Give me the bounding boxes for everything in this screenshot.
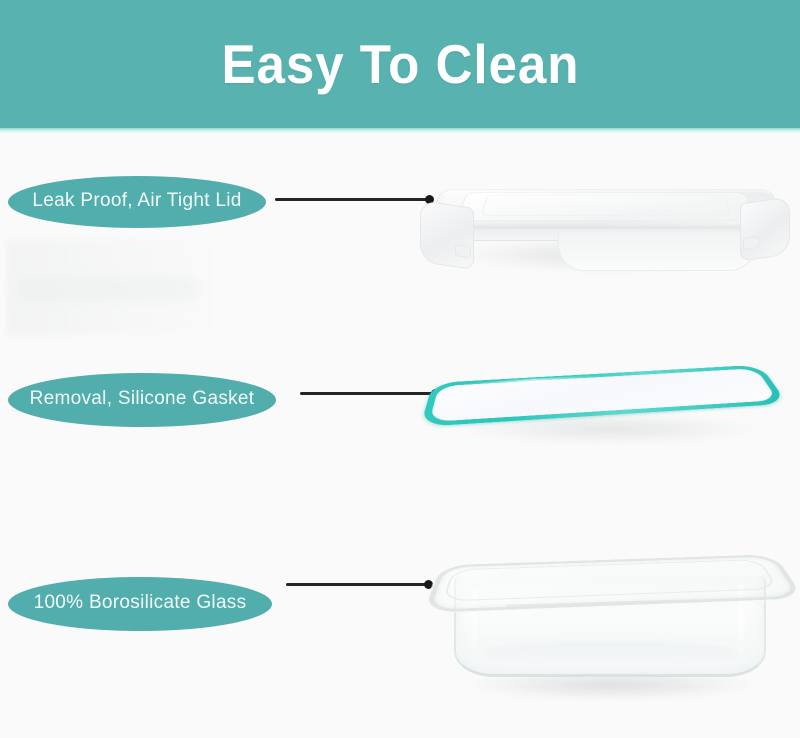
infographic-page: Easy To Clean Leak Proof, Air Tight Lid … (0, 0, 800, 738)
gasket-alt-text: Turquoise removable silicone gasket ring (425, 352, 426, 353)
glass-alt-text: Clear rectangular borosilicate glass foo… (428, 530, 429, 531)
callout-label: Leak Proof, Air Tight Lid (32, 190, 241, 212)
connector-line-gasket (300, 392, 436, 395)
lid-inner-panel-2 (481, 195, 731, 216)
product-image-glass-container: Clear rectangular borosilicate glass foo… (428, 530, 796, 705)
connector-line-glass (286, 583, 429, 586)
lid-latch-right (740, 196, 790, 261)
lid-latch-left (420, 200, 474, 270)
connector-line-lid (275, 198, 430, 201)
callout-label: 100% Borosilicate Glass (34, 592, 247, 614)
product-image-silicone-gasket: Turquoise removable silicone gasket ring (425, 352, 790, 452)
callout-pill-leak-proof-air-tight-lid[interactable]: Leak Proof, Air Tight Lid (8, 176, 266, 228)
product-image-plastic-lid: Translucent plastic snap lid with side l… (418, 160, 790, 285)
header-banner: Easy To Clean (0, 0, 800, 128)
callout-pill-100-borosilicate-glass[interactable]: 100% Borosilicate Glass (8, 577, 272, 631)
header-underline (0, 128, 800, 133)
callout-label: Removal, Silicone Gasket (30, 388, 255, 410)
page-title: Easy To Clean (221, 32, 579, 96)
callout-pill-removal-silicone-gasket[interactable]: Removal, Silicone Gasket (8, 373, 276, 427)
lid-alt-text: Translucent plastic snap lid with side l… (418, 160, 419, 161)
lid-front-lip (558, 232, 756, 271)
background-watermark (6, 240, 256, 335)
glass-floor (486, 642, 736, 668)
